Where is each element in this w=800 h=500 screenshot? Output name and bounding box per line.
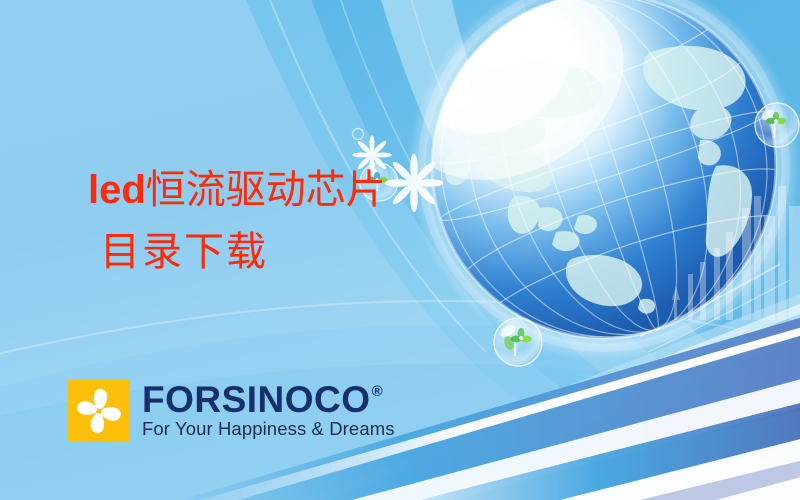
logo-wordmark: FORSINOCO <box>142 382 371 417</box>
logo-text-block: FORSINOCO ® For Your Happiness & Dreams <box>142 380 395 440</box>
forsinoco-logo[interactable]: FORSINOCO ® For Your Happiness & Dreams <box>68 380 395 442</box>
bubble-windmill-mid <box>360 163 398 201</box>
bubble-windmill-lower <box>494 318 542 366</box>
promo-banner: led恒流驱动芯片 目录下载 FORSINOCO ® For Your Happ… <box>0 0 800 500</box>
forsinoco-petal-mark <box>68 380 130 442</box>
bubble-windmill-right <box>755 103 799 147</box>
logo-tagline: For Your Happiness & Dreams <box>142 418 395 440</box>
logo-wordmark-row: FORSINOCO ® <box>142 382 395 417</box>
registered-trademark-icon: ® <box>372 384 384 399</box>
